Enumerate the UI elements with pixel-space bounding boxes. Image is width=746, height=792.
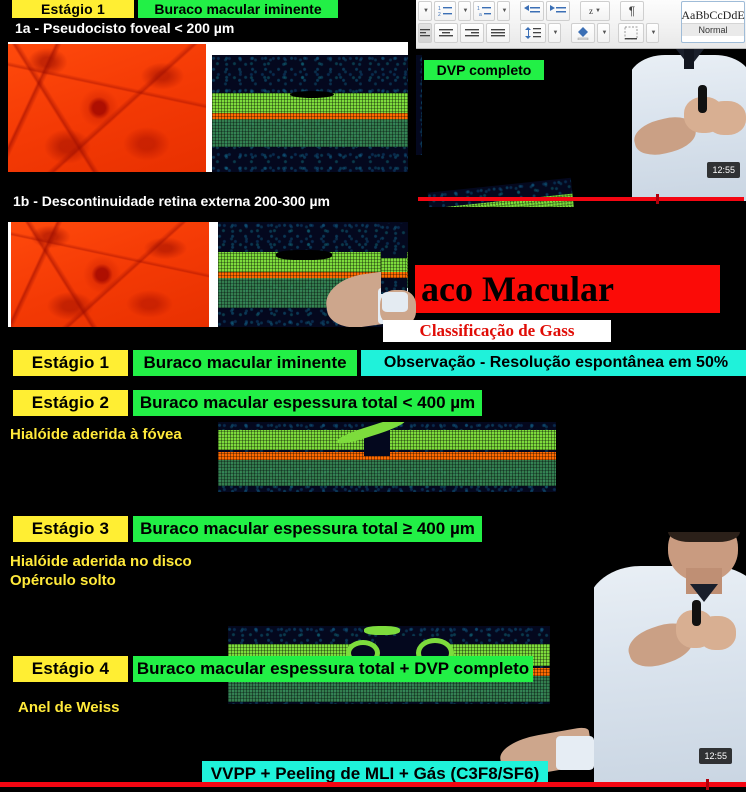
style-name-label: Normal <box>682 23 744 36</box>
chevron-down-icon: ▼ <box>423 8 429 14</box>
classification-subtitle-box: Classificação de Gass <box>383 320 611 342</box>
oct-scan-video-top <box>428 178 581 207</box>
row-2-stage-label: Estágio 2 <box>13 390 128 416</box>
shading-button[interactable] <box>571 23 595 43</box>
oct-scan-1a <box>212 55 408 172</box>
oct-scan-behind-title <box>381 224 407 294</box>
row-2-note-0: Hialóide aderida à fóvea <box>10 426 182 443</box>
word-ribbon: ▼ 1 2 ▼ 1 a <box>416 0 746 49</box>
row-1-stage-label: Estágio 1 <box>13 350 128 376</box>
video-progress-knob-top[interactable] <box>656 194 659 204</box>
increase-indent-icon <box>550 5 566 17</box>
video-timestamp-top: 12:55 <box>707 162 740 178</box>
svg-text:2: 2 <box>438 12 441 17</box>
row-2-description-label: Buraco macular espessura total < 400 µm <box>133 390 482 416</box>
align-right-icon <box>465 28 479 39</box>
oct-outer-band <box>212 119 408 147</box>
decrease-indent-button[interactable] <box>520 1 544 21</box>
presenter-video-top: 12:55 <box>632 49 746 201</box>
row-3-note-1: Opérculo solto <box>10 572 116 589</box>
align-center-button[interactable] <box>434 23 458 43</box>
presenter-microphone <box>698 85 707 113</box>
multilevel-list-icon: 1 a <box>477 5 491 17</box>
slide-1b-image-row <box>8 222 408 327</box>
slide-stage1-stage-label: Estágio 1 <box>12 0 134 18</box>
video-top-panel[interactable]: DVP completo 12:55 <box>416 49 746 207</box>
row-3-note-0: Hialóide aderida no disco <box>10 553 192 570</box>
slide-line-1b: 1b - Descontinuidade retina externa 200-… <box>13 193 330 209</box>
video-progress-knob-bottom[interactable] <box>706 779 709 790</box>
oct-rpe-band <box>381 272 407 278</box>
chevron-down-icon: ▼ <box>502 8 508 14</box>
line-spacing-icon <box>525 27 541 39</box>
video-timestamp-bottom: 12:55 <box>699 748 732 764</box>
borders-button[interactable] <box>618 23 644 43</box>
row-4-description-label: Buraco macular espessura total + DVP com… <box>133 656 533 682</box>
row-1-description-label: Buraco macular iminente <box>133 350 357 376</box>
presenter-cuff-behind-title <box>382 292 408 312</box>
fundus-photo-1a <box>8 44 206 172</box>
borders-dropdown-button[interactable]: ▼ <box>646 23 659 43</box>
increase-indent-button[interactable] <box>546 1 570 21</box>
presenter-hair <box>668 532 740 542</box>
decrease-indent-icon <box>524 5 540 17</box>
oct-outer-retina-break <box>276 250 332 260</box>
line-spacing-button[interactable] <box>520 23 546 43</box>
video-overlay-dvp-label: DVP completo <box>424 60 544 80</box>
slide-stage1-panel: Estágio 1 Buraco macular iminente 1a - P… <box>0 0 415 330</box>
oct-operculum-stage3 <box>364 626 400 635</box>
svg-text:a: a <box>479 12 482 17</box>
line-spacing-dropdown-button[interactable]: ▼ <box>548 23 561 43</box>
justify-icon <box>491 28 505 39</box>
row-4-note-0: Anel de Weiss <box>18 699 119 716</box>
presenter-tie <box>684 49 694 69</box>
row-1-treatment-label: Observação - Resolução espontânea em 50% <box>361 350 746 376</box>
style-sample-text: AaBbCcDdE <box>681 8 744 23</box>
sort-az-icon: z <box>589 6 593 16</box>
chevron-down-icon: ▼ <box>651 30 657 36</box>
ribbon-paragraph-group-row2: ▼ ▼ ▼ <box>418 23 659 43</box>
oct-outer-band <box>218 460 556 486</box>
numbering-list-button[interactable]: 1 2 <box>434 1 456 21</box>
slide-line-1a: 1a - Pseudocisto foveal < 200 µm <box>15 20 234 36</box>
align-left-button[interactable] <box>418 23 432 43</box>
numbered-list-icon: 1 2 <box>438 5 452 17</box>
align-center-icon <box>439 28 453 39</box>
row-3-description-label: Buraco macular espessura total ≥ 400 µm <box>133 516 482 542</box>
video-progress-bar-bottom[interactable] <box>0 782 746 787</box>
title-banner: aco Macular <box>415 265 720 313</box>
numbering-dropdown-button[interactable]: ▼ <box>458 1 471 21</box>
slide-1a-image-row <box>8 42 408 172</box>
align-left-icon <box>420 28 430 38</box>
oct-pseudocyst-defect <box>290 91 334 98</box>
paint-bucket-icon <box>576 26 590 40</box>
slide-stage1-condition-label: Buraco macular iminente <box>138 0 338 18</box>
video-bottom-presenter[interactable]: 12:55 <box>594 532 746 786</box>
chevron-down-icon: ▼ <box>463 8 469 14</box>
oct-scan-video-left-edge <box>416 55 422 155</box>
pilcrow-icon: ¶ <box>629 4 635 18</box>
chevron-down-icon: ▼ <box>602 30 608 36</box>
justify-button[interactable] <box>486 23 510 43</box>
ribbon-paragraph-group-row1: ▼ 1 2 ▼ 1 a <box>418 1 644 21</box>
screen-root: ▼ 1 2 ▼ 1 a <box>0 0 746 792</box>
show-formatting-marks-button[interactable]: ¶ <box>620 1 644 21</box>
bullets-dropdown-button[interactable]: ▼ <box>418 1 432 21</box>
oct-scan-stage2 <box>218 422 556 492</box>
presenter-microphone <box>692 600 701 626</box>
row-3-stage-label: Estágio 3 <box>13 516 128 542</box>
style-gallery-normal[interactable]: AaBbCcDdE Normal <box>681 1 745 43</box>
row-4-stage-label: Estágio 4 <box>13 656 128 682</box>
presenter-hand-right <box>698 616 736 650</box>
presenter-hand-right <box>706 101 746 135</box>
multilevel-dropdown-button[interactable]: ▼ <box>497 1 510 21</box>
borders-icon <box>624 26 638 40</box>
chevron-down-icon: ▼ <box>595 8 601 14</box>
chevron-down-icon: ▼ <box>553 30 559 36</box>
sort-button[interactable]: z ▼ <box>580 1 610 21</box>
fundus-photo-1b <box>11 222 209 327</box>
video-progress-bar-top[interactable] <box>418 197 744 201</box>
presenter-cuff-stage4 <box>556 736 594 770</box>
shading-dropdown-button[interactable]: ▼ <box>597 23 610 43</box>
align-right-button[interactable] <box>460 23 484 43</box>
multilevel-list-button[interactable]: 1 a <box>473 1 495 21</box>
